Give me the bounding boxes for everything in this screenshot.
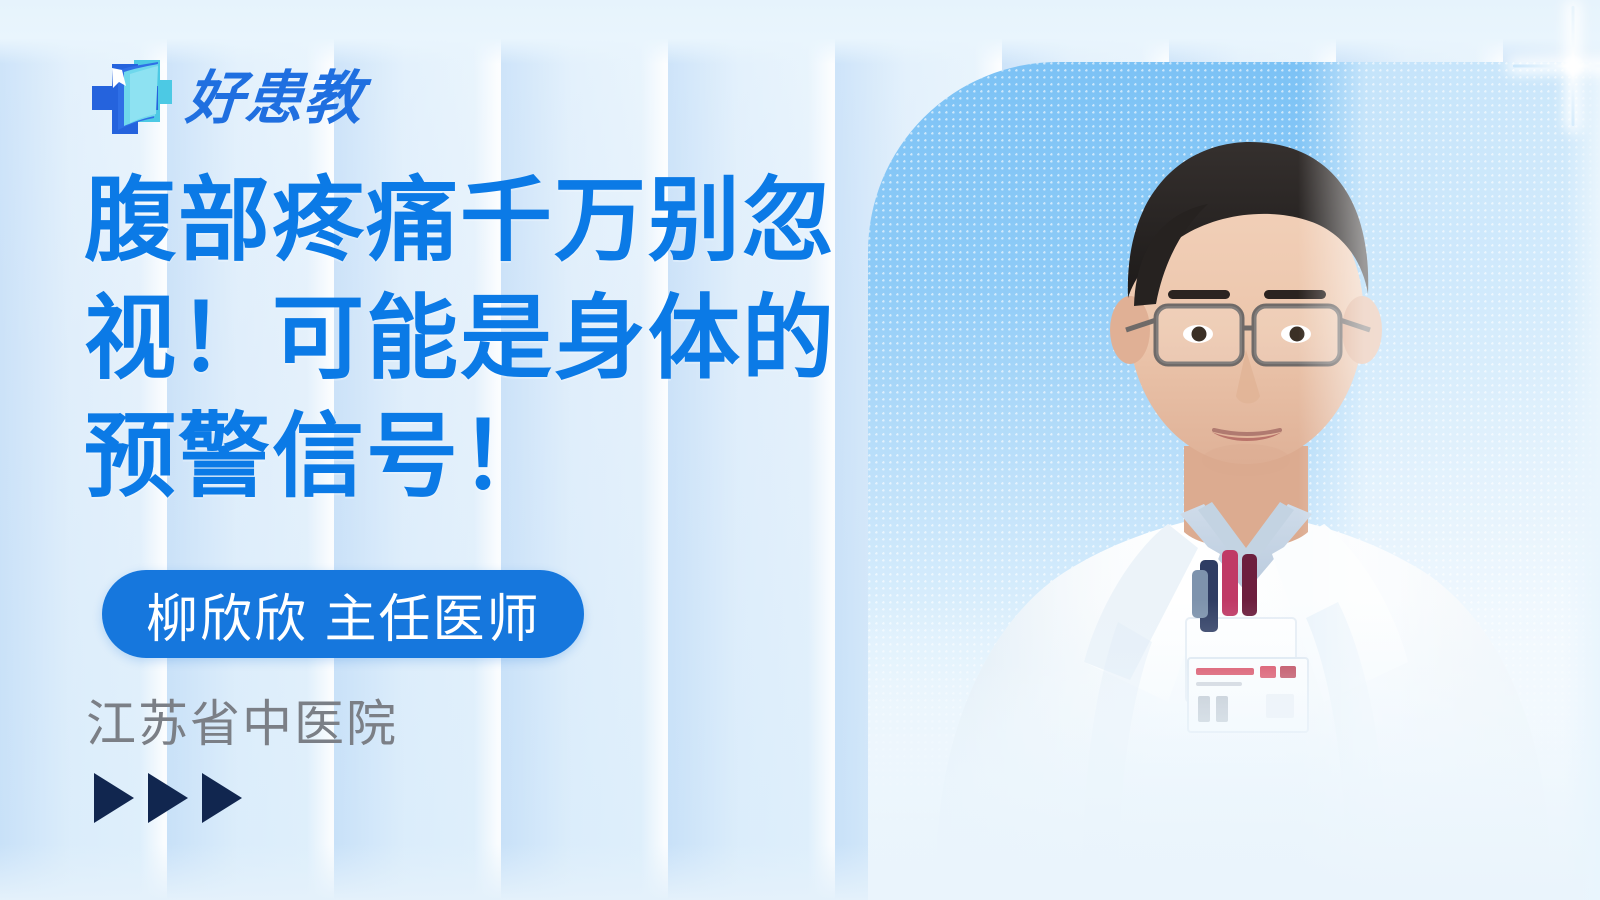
hospital-name: 江苏省中医院 — [86, 684, 398, 756]
sparkle-star-icon — [1572, 65, 1574, 67]
video-cover-card: 好患教 腹部疼痛千万别忽 视！可能是身体的 预警信号！ 柳欣欣 主任医师 江苏省… — [0, 0, 1600, 900]
doctor-name-badge: 柳欣欣 主任医师 — [102, 570, 584, 658]
play-triangle-icon — [148, 773, 188, 823]
background-top-fade — [0, 0, 1600, 64]
headline-line-3: 预警信号！ — [84, 398, 884, 516]
play-triangle-icon — [202, 773, 242, 823]
brand-logo[interactable]: 好患教 — [88, 56, 363, 142]
sparkle-core — [1561, 54, 1585, 78]
brand-name: 好患教 — [184, 70, 365, 128]
medical-cross-book-logo-icon — [88, 56, 172, 142]
doctor-photo-panel — [868, 62, 1600, 900]
headline-line-2: 视！可能是身体的 — [84, 280, 884, 398]
panel-edge-fade — [1564, 62, 1600, 900]
headline: 腹部疼痛千万别忽 视！可能是身体的 预警信号！ — [84, 162, 884, 516]
play-arrows — [94, 773, 242, 823]
doctor-name-label: 柳欣欣 主任医师 — [146, 577, 540, 652]
panel-bottom-wash — [868, 600, 1600, 900]
play-triangle-icon — [94, 773, 134, 823]
headline-line-1: 腹部疼痛千万别忽 — [84, 162, 884, 280]
